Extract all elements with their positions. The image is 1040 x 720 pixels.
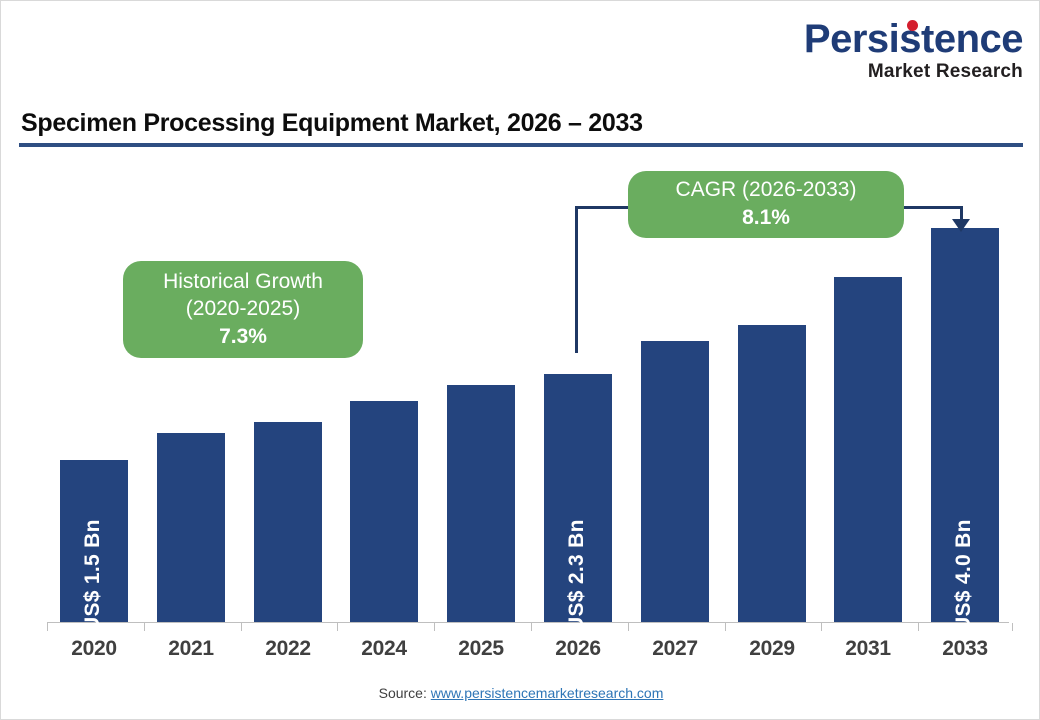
bar-2024: [350, 401, 418, 622]
title-underline: [19, 143, 1023, 147]
bar-2031: [834, 277, 902, 622]
bar-2029: [738, 325, 806, 622]
x-axis-tick: [821, 623, 822, 631]
historical-growth-value: 7.3%: [219, 323, 267, 350]
x-axis-tick: [1012, 623, 1013, 631]
x-axis-label-2029: 2029: [724, 637, 820, 661]
x-axis-tick: [918, 623, 919, 631]
x-axis-label-2031: 2031: [820, 637, 916, 661]
bar-2033: [931, 228, 999, 622]
x-axis-label-2021: 2021: [143, 637, 239, 661]
x-axis-tick: [241, 623, 242, 631]
x-axis-tick: [628, 623, 629, 631]
page-title: Specimen Processing Equipment Market, 20…: [21, 109, 643, 138]
x-axis-label-2025: 2025: [433, 637, 529, 661]
x-axis-tick: [531, 623, 532, 631]
bar-value-label-2033: US$ 4.0 Bn: [952, 519, 976, 632]
cagr-connector-left: [575, 206, 578, 353]
x-axis-line: [47, 622, 1009, 623]
bar-2020: [60, 460, 128, 622]
source-footer: Source: www.persistencemarketresearch.co…: [1, 685, 1040, 701]
bar-2026: [544, 374, 612, 622]
x-axis-label-2024: 2024: [336, 637, 432, 661]
x-axis-tick: [47, 623, 48, 631]
historical-growth-callout: Historical Growth (2020-2025) 7.3%: [123, 261, 363, 358]
cagr-line1: CAGR (2026-2033): [676, 177, 857, 204]
cagr-arrow-icon: [952, 219, 970, 232]
x-axis-tick: [144, 623, 145, 631]
x-axis-tick: [434, 623, 435, 631]
historical-growth-line2: (2020-2025): [186, 296, 300, 323]
x-axis-label-2020: 2020: [46, 637, 142, 661]
bar-2027: [641, 341, 709, 622]
x-axis-label-2033: 2033: [917, 637, 1013, 661]
chart-page: Persistence Market Research Specimen Pro…: [0, 0, 1040, 720]
x-axis-tick: [725, 623, 726, 631]
bar-2022: [254, 422, 322, 622]
brand-logo: Persistence Market Research: [804, 19, 1023, 81]
bar-value-label-2026: US$ 2.3 Bn: [565, 519, 589, 632]
source-link[interactable]: www.persistencemarketresearch.com: [431, 685, 664, 701]
bar-2025: [447, 385, 515, 622]
x-axis-label-2022: 2022: [240, 637, 336, 661]
bar-value-label-2020: US$ 1.5 Bn: [81, 519, 105, 632]
source-label: Source:: [379, 685, 427, 701]
bar-2021: [157, 433, 225, 622]
cagr-callout: CAGR (2026-2033) 8.1%: [628, 171, 904, 238]
x-axis-tick: [337, 623, 338, 631]
brand-dot-icon: [907, 20, 918, 31]
x-axis-label-2026: 2026: [530, 637, 626, 661]
cagr-value: 8.1%: [742, 204, 790, 231]
brand-tagline: Market Research: [804, 62, 1023, 81]
historical-growth-line1: Historical Growth: [163, 269, 323, 296]
x-axis-label-2027: 2027: [627, 637, 723, 661]
